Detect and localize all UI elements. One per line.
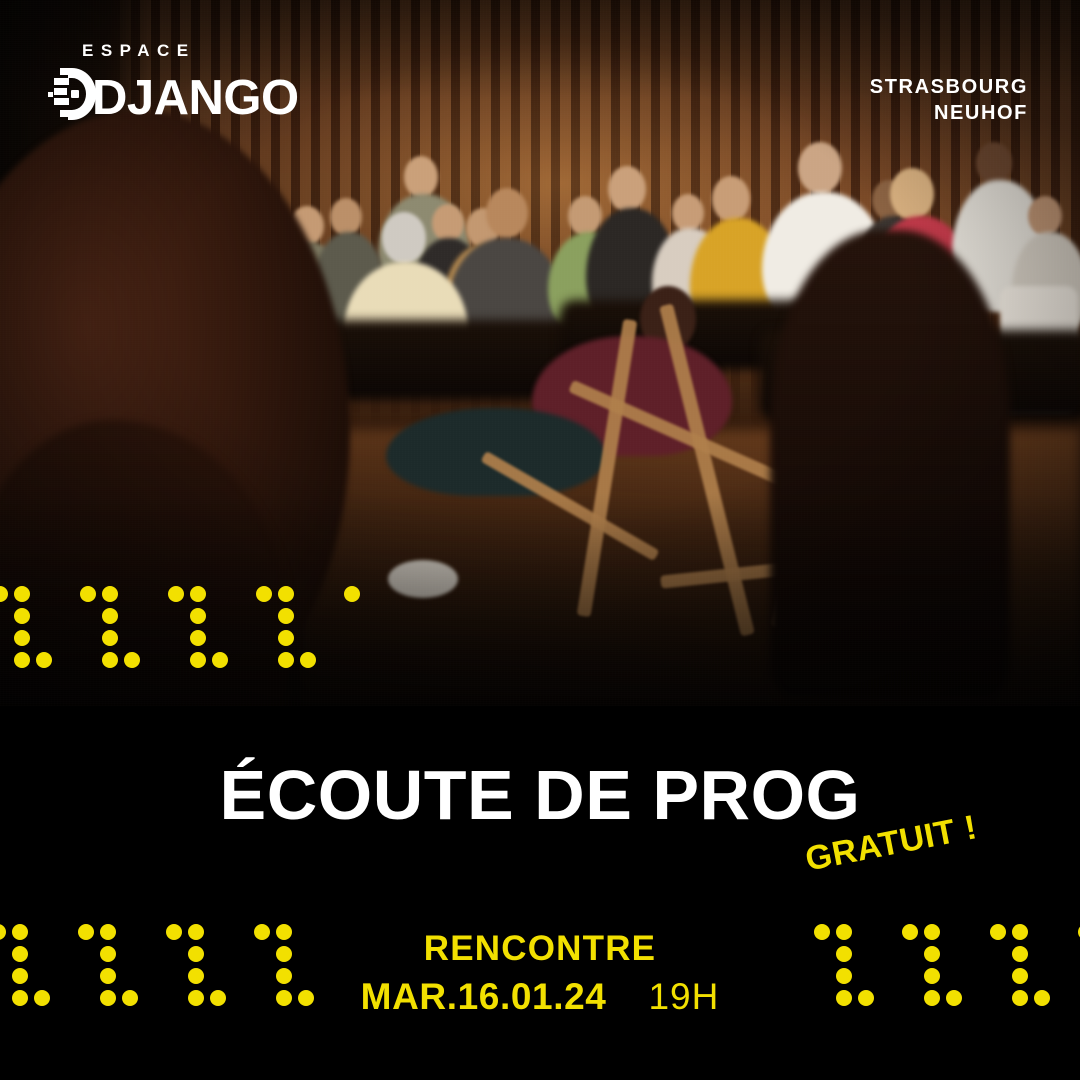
poster-root: ESPACE DJANGO bbox=[0, 0, 1080, 1080]
pattern-dot bbox=[12, 946, 28, 962]
pattern-dot bbox=[188, 990, 204, 1006]
espace-django-logo[interactable]: ESPACE DJANGO bbox=[48, 42, 248, 138]
pattern-dot bbox=[1012, 990, 1028, 1006]
pattern-dot bbox=[814, 924, 830, 940]
pattern-dot bbox=[858, 990, 874, 1006]
pattern-dot bbox=[188, 968, 204, 984]
dot-pattern-photo bbox=[0, 586, 322, 706]
pattern-dot bbox=[122, 990, 138, 1006]
pattern-dot bbox=[14, 586, 30, 602]
pattern-dot bbox=[166, 924, 182, 940]
pattern-dot bbox=[78, 924, 94, 940]
pattern-dot bbox=[100, 990, 116, 1006]
pattern-dot bbox=[14, 652, 30, 668]
pattern-dot bbox=[254, 924, 270, 940]
pattern-dot bbox=[1012, 946, 1028, 962]
pattern-dot bbox=[212, 652, 228, 668]
pattern-dot bbox=[190, 608, 206, 624]
pattern-dot bbox=[188, 946, 204, 962]
pattern-dot bbox=[102, 586, 118, 602]
pattern-dot bbox=[836, 990, 852, 1006]
pattern-dot bbox=[344, 586, 360, 602]
pattern-dot bbox=[100, 946, 116, 962]
pattern-dot bbox=[276, 946, 292, 962]
pattern-dot bbox=[102, 630, 118, 646]
pattern-dot bbox=[124, 652, 140, 668]
pattern-dot bbox=[924, 946, 940, 962]
logo-espace-text: ESPACE bbox=[82, 42, 248, 59]
pattern-dot bbox=[190, 586, 206, 602]
pattern-dot bbox=[278, 608, 294, 624]
pattern-dot bbox=[34, 990, 50, 1006]
pattern-dot bbox=[946, 990, 962, 1006]
pattern-dot bbox=[276, 924, 292, 940]
location-city: STRASBOURG bbox=[870, 74, 1028, 100]
pattern-dot bbox=[1012, 968, 1028, 984]
pattern-dot bbox=[1034, 990, 1050, 1006]
pattern-dot bbox=[924, 990, 940, 1006]
pattern-dot bbox=[278, 652, 294, 668]
pattern-dot bbox=[12, 924, 28, 940]
pattern-dot bbox=[190, 630, 206, 646]
pattern-dot bbox=[210, 990, 226, 1006]
info-panel: ÉCOUTE DE PROG GRATUIT ! RENCONTRE MAR.1… bbox=[0, 706, 1080, 1080]
pattern-dot bbox=[836, 924, 852, 940]
pattern-dot bbox=[990, 924, 1006, 940]
location-district: NEUHOF bbox=[870, 100, 1028, 126]
pattern-dot bbox=[100, 968, 116, 984]
pattern-dot bbox=[1012, 924, 1028, 940]
pattern-dot bbox=[0, 924, 6, 940]
foreground-silhouette-right bbox=[770, 230, 1010, 700]
pattern-dot bbox=[12, 968, 28, 984]
pattern-dot bbox=[276, 968, 292, 984]
pattern-dot bbox=[924, 968, 940, 984]
logo-django-text: DJANGO bbox=[92, 75, 299, 122]
pattern-dot bbox=[276, 990, 292, 1006]
pattern-dot bbox=[924, 924, 940, 940]
pattern-dot bbox=[102, 652, 118, 668]
pattern-dot bbox=[36, 652, 52, 668]
pattern-dot bbox=[190, 652, 206, 668]
pattern-dot bbox=[256, 586, 272, 602]
event-photo: ESPACE DJANGO bbox=[0, 0, 1080, 706]
pattern-dot bbox=[102, 608, 118, 624]
pattern-dot bbox=[278, 630, 294, 646]
pattern-dot bbox=[836, 968, 852, 984]
event-time: 19H bbox=[648, 976, 719, 1017]
pattern-dot bbox=[188, 924, 204, 940]
pattern-dot bbox=[278, 586, 294, 602]
django-pixel-d-icon bbox=[48, 66, 96, 122]
pattern-dot bbox=[0, 586, 8, 602]
pattern-dot bbox=[12, 990, 28, 1006]
event-date: MAR.16.01.24 bbox=[361, 976, 607, 1017]
pattern-dot bbox=[168, 586, 184, 602]
pattern-dot bbox=[298, 990, 314, 1006]
dot-pattern-bottom-left bbox=[0, 924, 310, 1034]
pattern-dot bbox=[14, 608, 30, 624]
pattern-dot bbox=[14, 630, 30, 646]
pattern-dot bbox=[80, 586, 96, 602]
pattern-dot bbox=[300, 652, 316, 668]
pattern-dot bbox=[836, 946, 852, 962]
pattern-dot bbox=[100, 924, 116, 940]
dot-pattern-bottom-right bbox=[770, 924, 1080, 1034]
location-label: STRASBOURG NEUHOF bbox=[870, 74, 1028, 127]
pattern-dot bbox=[902, 924, 918, 940]
